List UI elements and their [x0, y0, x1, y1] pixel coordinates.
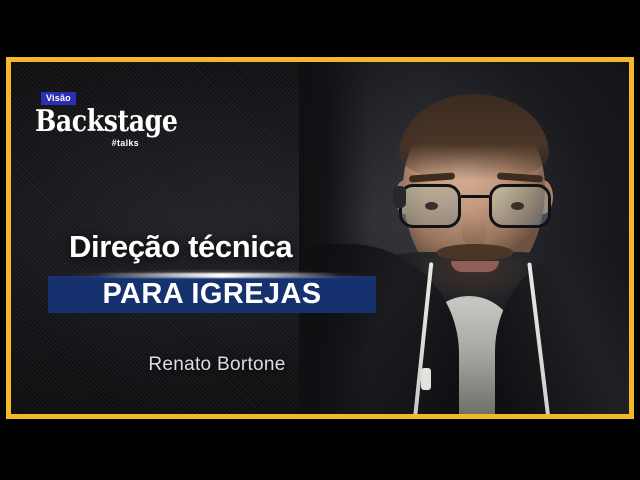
title-line-1: Direção técnica [69, 229, 292, 265]
title-line-2: PARA IGREJAS [102, 278, 321, 311]
speaker-name: Renato Bortone [11, 354, 423, 376]
divider-line [59, 273, 371, 278]
gold-bordered-card: Visão Backstage #talks Direção técnica P… [6, 57, 634, 419]
card-inner: Visão Backstage #talks Direção técnica P… [11, 62, 629, 414]
video-thumbnail-frame: Visão Backstage #talks Direção técnica P… [0, 0, 640, 480]
letterbox-top [0, 0, 640, 57]
brand-logo: Visão Backstage #talks [35, 88, 205, 148]
brand-hashtag-talks: #talks [35, 138, 139, 148]
title-highlight-band: PARA IGREJAS [48, 276, 376, 313]
brand-wordmark-backstage: Backstage [35, 107, 177, 137]
letterbox-bottom [0, 419, 640, 480]
